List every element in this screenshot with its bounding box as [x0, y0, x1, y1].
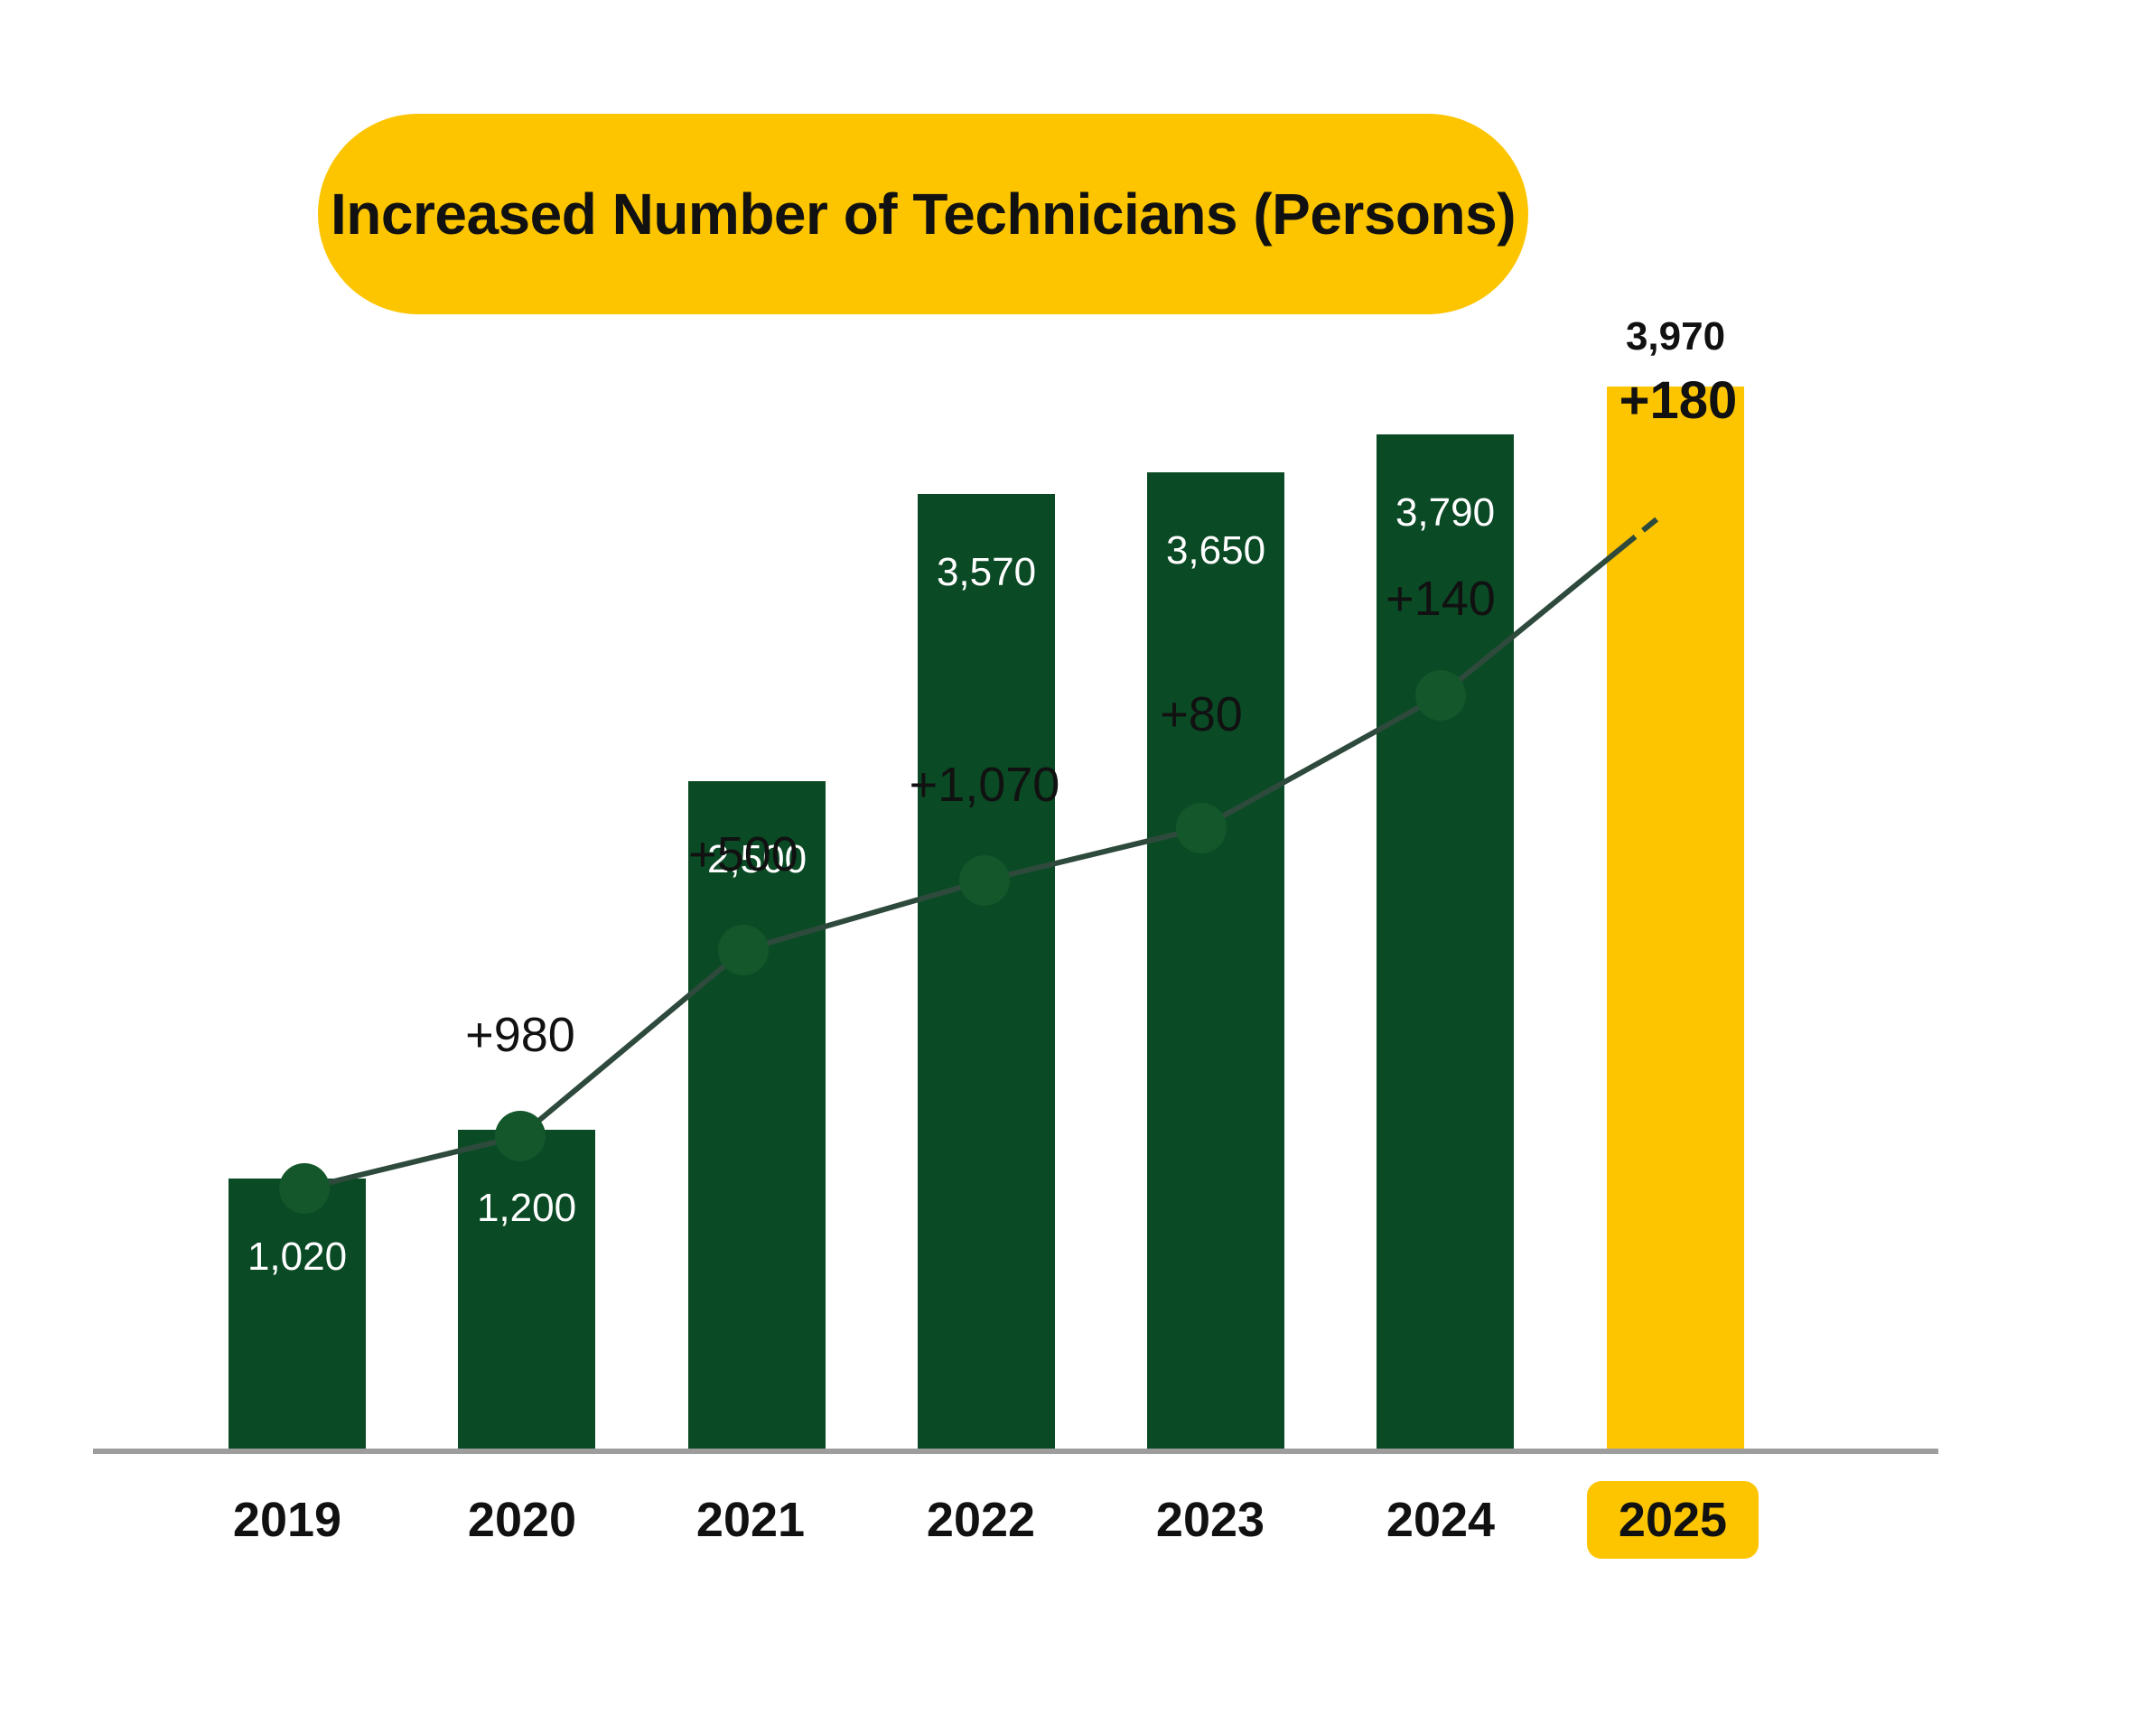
x-axis-label-2022: 2022 [891, 1481, 1071, 1559]
bar-2023: 3,650 [1147, 472, 1284, 1452]
delta-label-2021: +500 [688, 826, 798, 882]
delta-label-2022: +1,070 [910, 757, 1060, 813]
bar-2020: 1,200 [458, 1130, 595, 1452]
bar-value-2019: 1,020 [229, 1235, 366, 1280]
x-axis-label-2020: 2020 [432, 1481, 612, 1559]
x-axis-label-2025: 2025 [1587, 1481, 1759, 1559]
bar-value-2022: 3,570 [918, 550, 1055, 595]
bar-value-2025: 3,970 [1607, 314, 1744, 359]
delta-label-2024: +140 [1386, 571, 1496, 627]
increase-line-series [0, 0, 2156, 1724]
x-axis-label-2021: 2021 [660, 1481, 841, 1559]
bar-value-2024: 3,790 [1377, 490, 1514, 536]
bar-2022: 3,570 [918, 494, 1055, 1452]
x-axis-label-2023: 2023 [1120, 1481, 1301, 1559]
delta-label-2020: +980 [465, 1007, 575, 1063]
plot-area: 1,020 1,200 2,500 3,570 3,650 3,790 3,97… [0, 0, 2156, 1724]
bar-value-2023: 3,650 [1147, 528, 1284, 573]
x-axis-label-2024: 2024 [1350, 1481, 1531, 1559]
bar-2019: 1,020 [229, 1179, 366, 1452]
x-axis-label-2019: 2019 [197, 1481, 378, 1559]
bar-value-2020: 1,200 [458, 1186, 595, 1231]
delta-label-2025: +180 [1619, 370, 1738, 431]
chart-canvas: Increased Number of Technicians (Persons… [0, 0, 2156, 1724]
delta-label-2023: +80 [1160, 686, 1243, 742]
x-axis-line [93, 1449, 1938, 1454]
bar-2025: 3,970 [1607, 387, 1744, 1452]
x-axis-labels: 2019 2020 2021 2022 2023 2024 2025 [0, 1481, 2156, 1589]
